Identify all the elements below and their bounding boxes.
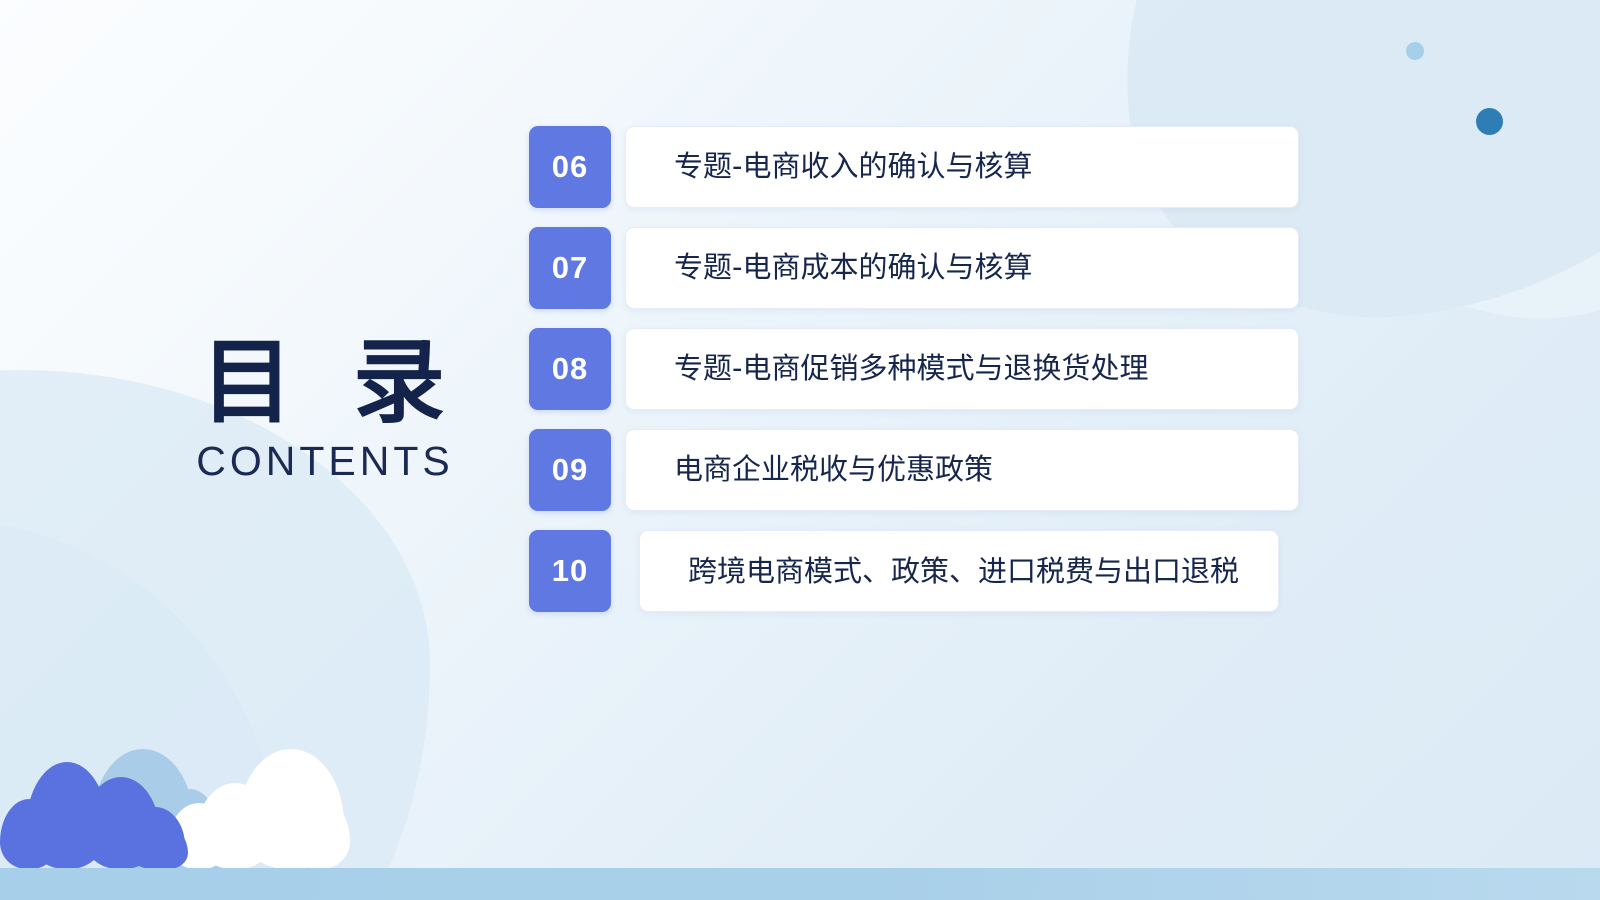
item-number-badge: 08 <box>529 328 611 410</box>
item-label: 专题-电商收入的确认与核算 <box>674 146 1032 187</box>
item-number-badge: 10 <box>529 530 611 612</box>
ground-strip <box>0 868 1600 900</box>
item-card[interactable]: 专题-电商促销多种模式与退换货处理 <box>625 328 1299 410</box>
list-item[interactable]: 10 跨境电商模式、政策、进口税费与出口退税 <box>529 530 1299 612</box>
item-label: 专题-电商促销多种模式与退换货处理 <box>674 348 1148 389</box>
list-item[interactable]: 07 专题-电商成本的确认与核算 <box>529 227 1299 309</box>
bush-cluster-decoration <box>0 709 420 869</box>
list-item[interactable]: 08 专题-电商促销多种模式与退换货处理 <box>529 328 1299 410</box>
item-card[interactable]: 专题-电商收入的确认与核算 <box>625 126 1299 208</box>
item-card[interactable]: 专题-电商成本的确认与核算 <box>625 227 1299 309</box>
item-label: 电商企业税收与优惠政策 <box>674 449 993 490</box>
list-item[interactable]: 06 专题-电商收入的确认与核算 <box>529 126 1299 208</box>
contents-list: 06 专题-电商收入的确认与核算 07 专题-电商成本的确认与核算 08 专题-… <box>529 126 1299 612</box>
item-number-badge: 09 <box>529 429 611 511</box>
slide-canvas: 目 录 CONTENTS 06 专题-电商收入的确认与核算 07 专题-电商成本… <box>0 0 1600 900</box>
item-card[interactable]: 电商企业税收与优惠政策 <box>625 429 1299 511</box>
large-dot-icon <box>1476 108 1503 135</box>
title-english: CONTENTS <box>150 438 500 485</box>
page-title: 目 录 CONTENTS <box>150 336 500 485</box>
item-number-badge: 06 <box>529 126 611 208</box>
list-item[interactable]: 09 电商企业税收与优惠政策 <box>529 429 1299 511</box>
title-chinese: 目 录 <box>160 336 500 430</box>
item-label: 跨境电商模式、政策、进口税费与出口退税 <box>688 551 1239 591</box>
small-dot-icon <box>1406 42 1424 60</box>
white-cloud-lobe <box>238 749 344 869</box>
item-card[interactable]: 跨境电商模式、政策、进口税费与出口退税 <box>639 530 1279 612</box>
item-number-badge: 07 <box>529 227 611 309</box>
item-label: 专题-电商成本的确认与核算 <box>674 247 1032 288</box>
